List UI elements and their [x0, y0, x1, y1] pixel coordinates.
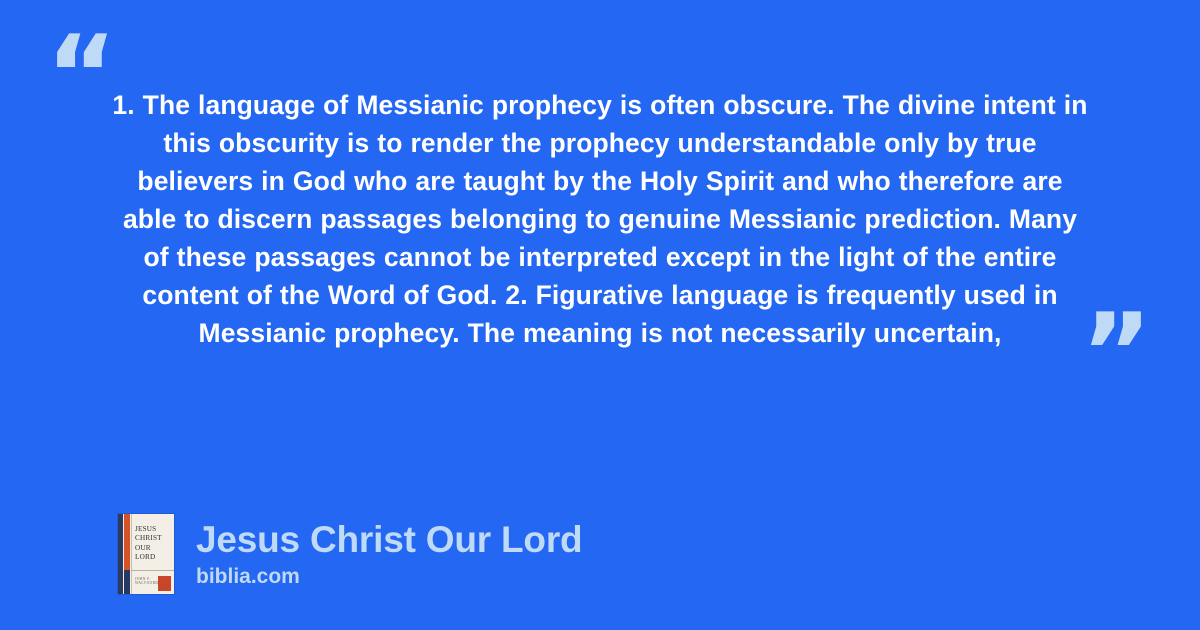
book-orange-stripe	[124, 514, 130, 570]
book-horizontal-rule	[131, 570, 174, 571]
source-site[interactable]: biblia.com	[196, 563, 582, 591]
book-spine-navy-stripe	[118, 514, 123, 594]
book-lower-navy-stripe	[124, 570, 130, 594]
footer-text-group: Jesus Christ Our Lord biblia.com	[196, 518, 582, 591]
book-cover-badge	[158, 576, 171, 591]
book-cover-thumbnail: JESUS CHRIST OUR LORD JOHN F. WALVOORD	[118, 514, 174, 594]
book-cover-title: JESUS CHRIST OUR LORD	[135, 525, 171, 563]
quote-text: 1. The language of Messianic prophecy is…	[110, 86, 1090, 352]
book-vertical-rule	[131, 514, 132, 594]
closing-quote-icon: ”	[1081, 300, 1154, 408]
footer-attribution: JESUS CHRIST OUR LORD JOHN F. WALVOORD J…	[118, 514, 582, 594]
opening-quote-icon: “	[46, 22, 119, 130]
source-title: Jesus Christ Our Lord	[196, 518, 582, 561]
quote-card: “ 1. The language of Messianic prophecy …	[0, 0, 1200, 630]
